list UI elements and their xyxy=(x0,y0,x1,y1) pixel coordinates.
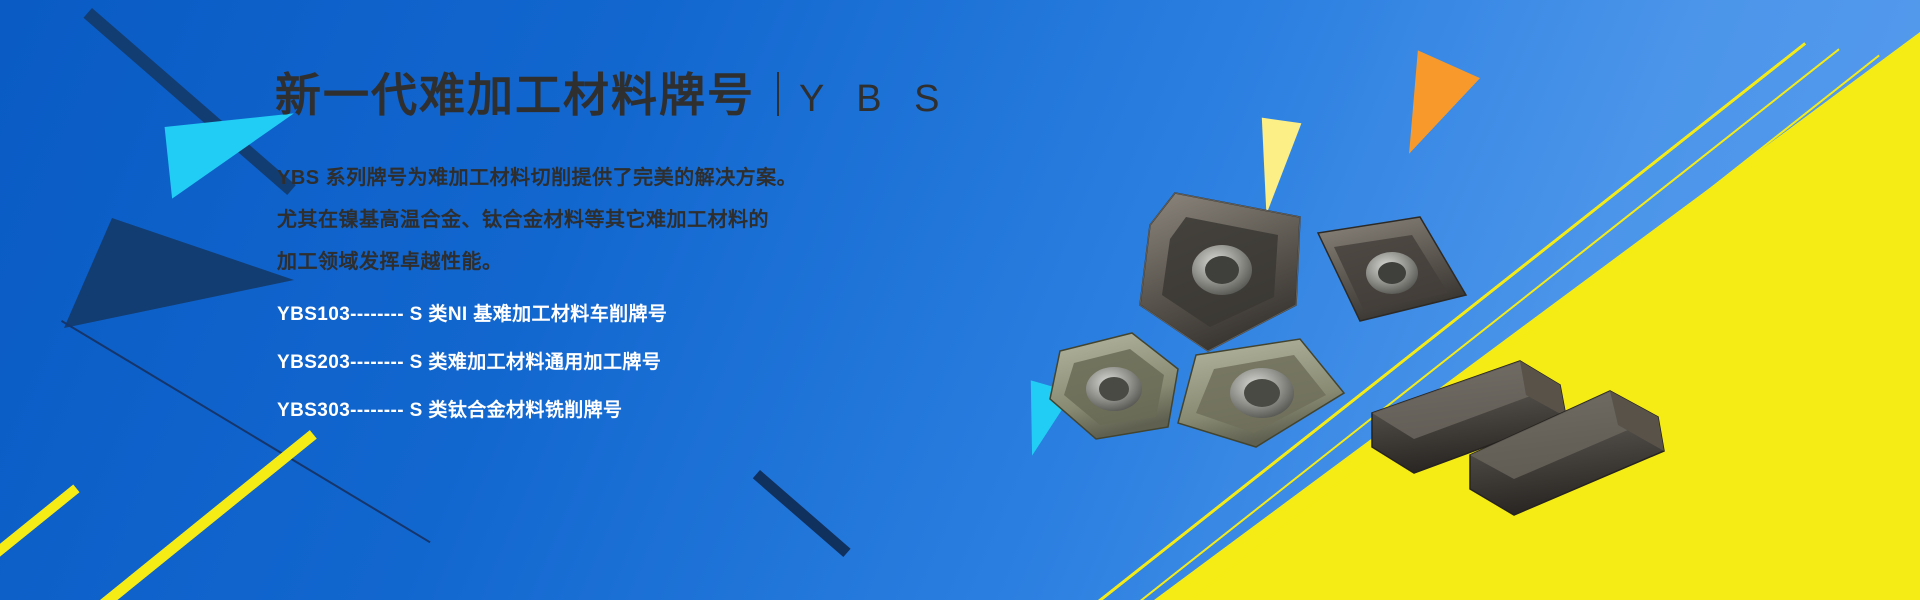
model-item-ybs203: YBS203-------- S 类难加工材料通用加工牌号 xyxy=(277,353,667,372)
title-ybs: Y B S xyxy=(799,80,950,118)
title-divider-icon xyxy=(777,72,779,116)
model-item-ybs103: YBS103-------- S 类NI 基难加工材料车削牌号 xyxy=(277,305,667,324)
square-face-mill-insert xyxy=(1178,339,1344,447)
model-list: YBS103-------- S 类NI 基难加工材料车削牌号 YBS203--… xyxy=(277,305,667,449)
cnmg-rhombic-insert xyxy=(1318,217,1466,321)
round-face-mill-insert xyxy=(1050,333,1178,439)
product-inserts-image xyxy=(1000,155,1700,535)
description-line-2: 尤其在镍基高温合金、钛合金材料等其它难加工材料的 xyxy=(277,207,797,234)
banner-root: 新一代难加工材料牌号 Y B S YBS 系列牌号为难加工材料切削提供了完美的解… xyxy=(0,0,1920,600)
title-chinese: 新一代难加工材料牌号 xyxy=(275,72,755,118)
description-line-1: YBS 系列牌号为难加工材料切削提供了完美的解决方案。 xyxy=(277,165,797,192)
model-item-ybs303: YBS303-------- S 类钛合金材料铣削牌号 xyxy=(277,401,667,420)
page-title: 新一代难加工材料牌号 Y B S xyxy=(275,72,950,118)
carbide-inserts-illustration xyxy=(1000,155,1700,535)
description-block: YBS 系列牌号为难加工材料切削提供了完美的解决方案。 尤其在镍基高温合金、钛合… xyxy=(277,165,797,291)
description-line-3: 加工领域发挥卓越性能。 xyxy=(277,249,797,276)
text-content: 新一代难加工材料牌号 Y B S YBS 系列牌号为难加工材料切削提供了完美的解… xyxy=(275,0,1035,600)
wnmg-trigon-insert xyxy=(1140,193,1300,351)
